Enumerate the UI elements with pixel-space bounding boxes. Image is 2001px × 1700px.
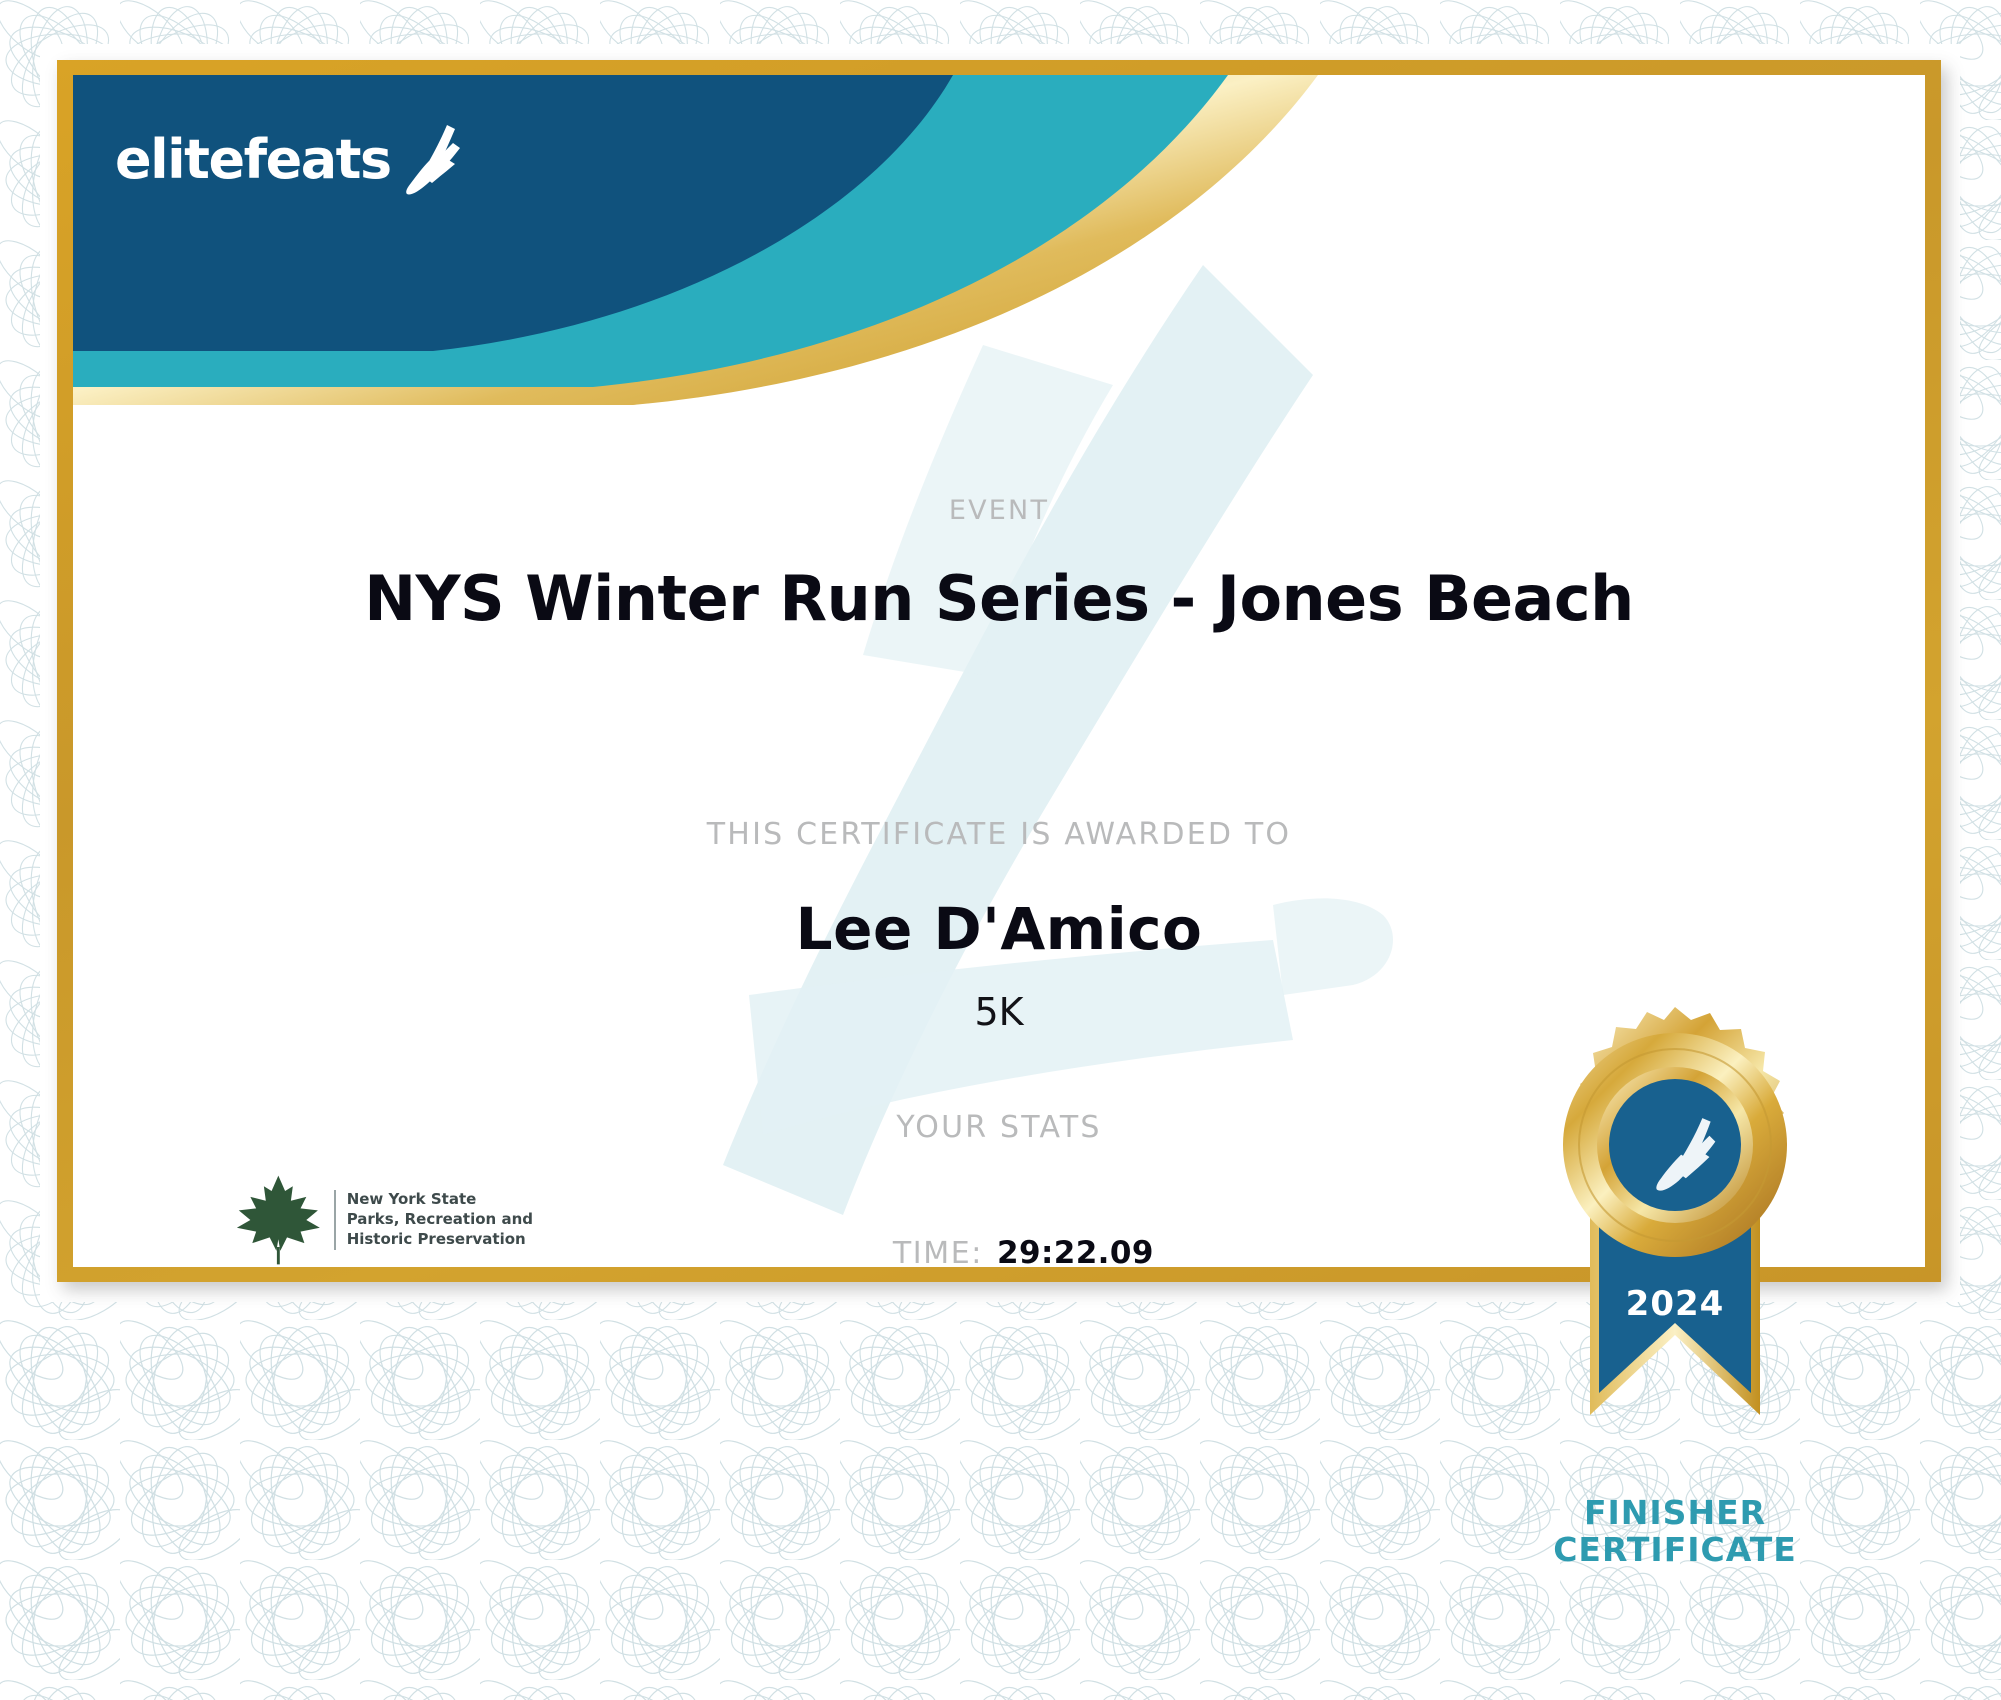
nys-parks-logo: New York State Parks, Recreation and His… (233, 1165, 533, 1267)
nys-line-1: New York State (347, 1190, 533, 1210)
stat-row: TIME: 29:22.09 (503, 1235, 1243, 1267)
nys-line-3: Historic Preservation (347, 1230, 533, 1250)
finisher-medal-badge: 2024 (1505, 1005, 1845, 1435)
brand-wordmark: elitefeats (115, 128, 391, 191)
medal-ribbon-year: 2024 (1626, 1284, 1725, 1324)
finisher-caption-line2: CERTIFICATE (1495, 1532, 1855, 1569)
elitefeats-logo: elitefeats (115, 123, 465, 195)
running-figure-icon (213, 1265, 543, 1267)
nys-parks-text: New York State Parks, Recreation and His… (334, 1190, 533, 1249)
event-title: NYS Winter Run Series - Jones Beach (73, 562, 1925, 635)
winter-run-series-logo: 2024 WINTER RUN SERIES (213, 1265, 543, 1267)
finisher-caption-line1: FINISHER (1495, 1495, 1855, 1532)
finisher-certificate-caption: FINISHER CERTIFICATE (1495, 1495, 1855, 1569)
event-label: EVENT (73, 495, 1925, 526)
awarded-to-label: THIS CERTIFICATE IS AWARDED TO (73, 817, 1925, 852)
stat-value-time: 29:22.09 (997, 1235, 1154, 1267)
maple-leaf-icon (233, 1170, 324, 1267)
stats-list: TIME: 29:22.09 AGE GROUP PLACE: 22 of 50… (503, 1235, 1243, 1267)
nys-line-2: Parks, Recreation and (347, 1210, 533, 1230)
winged-foot-icon (397, 123, 465, 195)
recipient-name: Lee D'Amico (73, 895, 1925, 963)
certificate-page: elitefeats EVENT NYS Winter Run Series -… (0, 0, 2001, 1700)
stat-key-time: TIME: (503, 1236, 983, 1267)
